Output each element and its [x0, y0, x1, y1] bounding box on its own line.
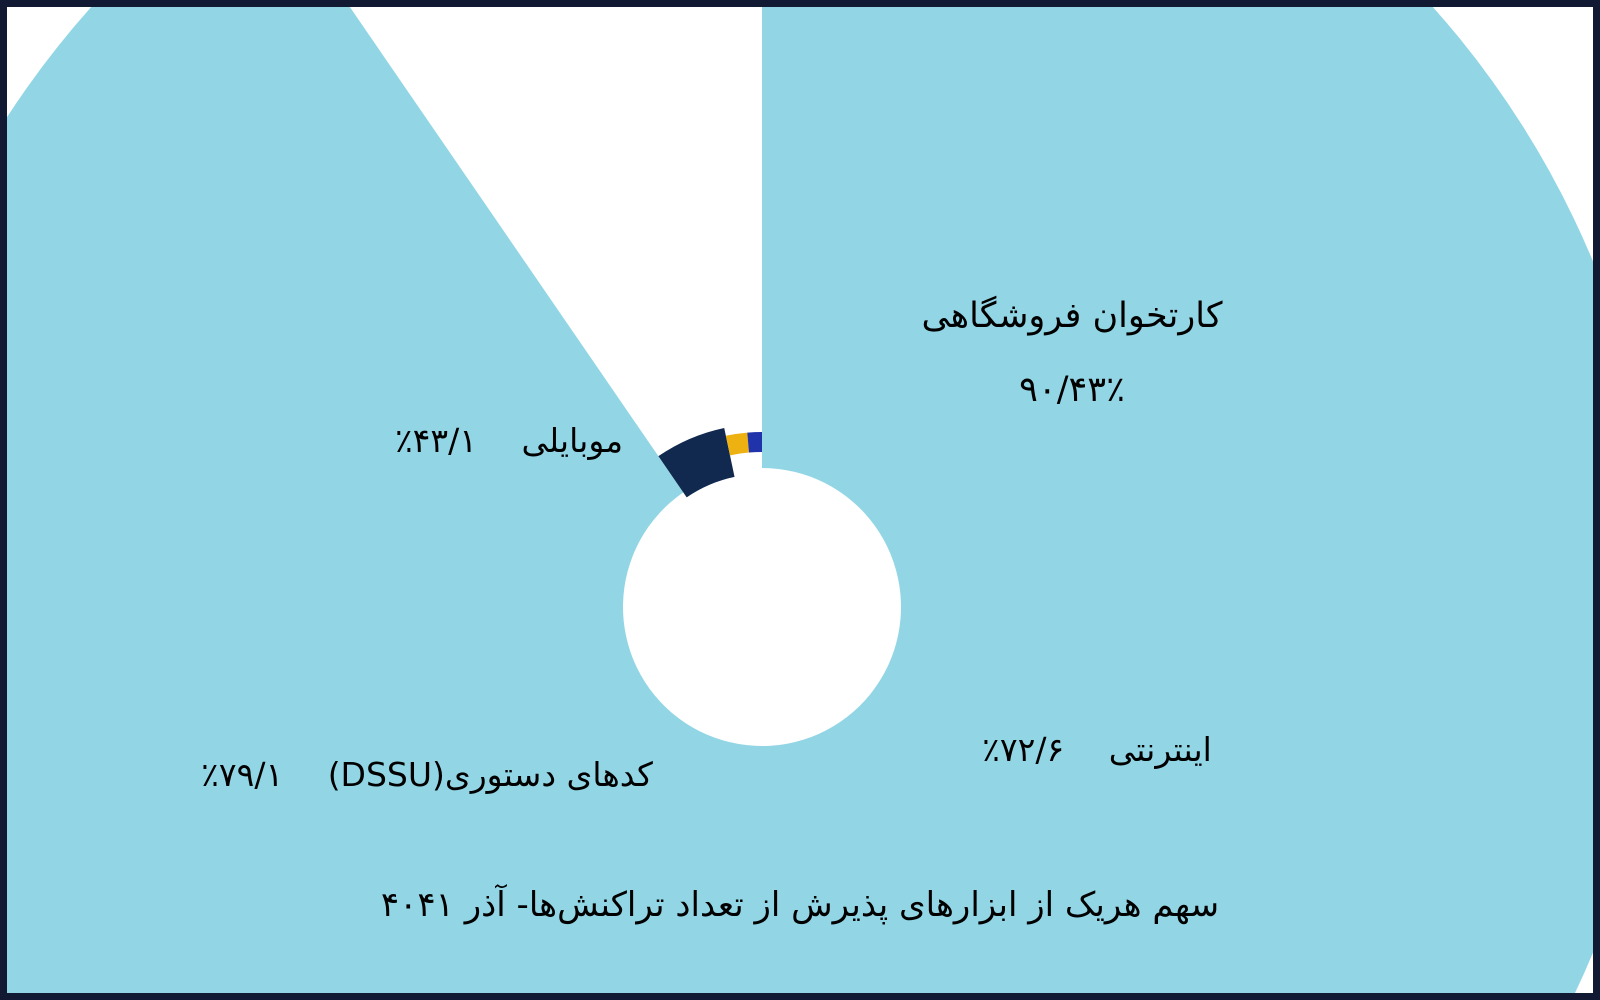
- donut-chart: کارتخوان فروشگاهی ۹۰/۴۳٪ اینترنتی ۶/۲۷٪ …: [7, 7, 1593, 993]
- slice-label-mobile: موبایلی ۱/۳۴٪: [379, 415, 639, 466]
- pie-chart-svg: [7, 7, 1593, 993]
- slice-label-internet-name: اینترنتی: [1109, 730, 1212, 769]
- slice-label-card-reader-name: کارتخوان فروشگاهی: [907, 289, 1237, 343]
- chart-caption: سهم هریک از ابزارهای پذیرش از تعداد تراک…: [7, 885, 1593, 925]
- slice-ussd[interactable]: [726, 433, 749, 456]
- slice-label-internet: اینترنتی ۶/۲۷٪: [947, 724, 1247, 775]
- slice-label-ussd-name: کدهای دستوری(USSD): [328, 755, 653, 794]
- slice-label-card-reader: کارتخوان فروشگاهی ۹۰/۴۳٪: [907, 289, 1237, 418]
- slice-card-reader[interactable]: [7, 7, 1593, 993]
- slice-label-ussd-value: ۱/۹۷٪: [201, 755, 283, 794]
- chart-page: کارتخوان فروشگاهی ۹۰/۴۳٪ اینترنتی ۶/۲۷٪ …: [0, 0, 1600, 1000]
- slice-label-card-reader-value: ۹۰/۴۳٪: [907, 363, 1237, 417]
- slice-label-mobile-value: ۱/۳۴٪: [395, 421, 477, 460]
- slice-mobile[interactable]: [747, 432, 762, 453]
- slice-label-ussd: کدهای دستوری(USSD) ۱/۹۷٪: [187, 749, 667, 800]
- slice-label-internet-value: ۶/۲۷٪: [982, 730, 1064, 769]
- slice-label-mobile-name: موبایلی: [521, 421, 623, 460]
